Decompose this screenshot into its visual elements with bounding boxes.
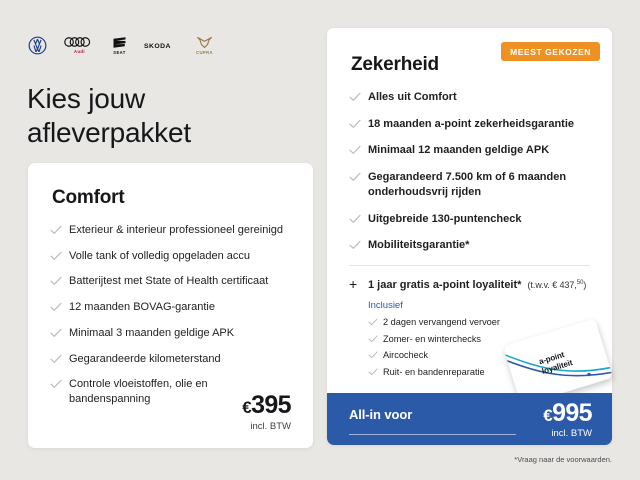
audi-logo: Audi [64, 36, 95, 54]
check-icon [50, 328, 62, 338]
inclusief-title: Inclusief [368, 300, 590, 311]
check-icon [349, 145, 361, 155]
status-badge: MEEST GEKOZEN [501, 42, 600, 61]
package-card-comfort[interactable]: Comfort Exterieur & interieur profession… [28, 163, 313, 448]
all-in-label: All-in voor [349, 407, 412, 422]
price-amount: 395 [251, 391, 291, 419]
check-icon [349, 214, 361, 224]
comfort-title: Comfort [52, 187, 313, 209]
list-item-label: Gegarandeerde kilometerstand [69, 353, 221, 365]
cupra-logo: CUPRA [196, 36, 213, 55]
list-item: 12 maanden BOVAG-garantie [50, 300, 291, 315]
comfort-price: €395 [242, 393, 291, 418]
list-item-label: 18 maanden a-point zekerheidsgarantie [368, 118, 574, 130]
skoda-logo: SKODA [144, 41, 179, 50]
comfort-price-block: €395 incl. BTW [242, 393, 291, 432]
seat-wordmark: SEAT [113, 50, 125, 55]
list-item-label: Controle vloeistoffen, olie en bandenspa… [69, 378, 208, 405]
loyalty-row: + 1 jaar gratis a-point loyaliteit* (t.w… [349, 279, 590, 291]
list-item-label: Alles uit Comfort [368, 91, 457, 103]
list-item: 18 maanden a-point zekerheidsgarantie [349, 117, 590, 132]
check-icon [349, 240, 361, 250]
check-icon [50, 225, 62, 235]
zekerheid-price: €995 [543, 401, 592, 426]
check-icon [368, 335, 378, 343]
list-item: Volle tank of volledig opgeladen accu [50, 249, 291, 264]
list-item-label: Mobiliteitsgarantie* [368, 239, 469, 251]
comfort-feature-list: Exterieur & interieur professioneel gere… [50, 223, 291, 407]
check-icon [349, 172, 361, 182]
list-item: Batterijtest met State of Health certifi… [50, 274, 291, 289]
loyalty-value-suffix: ) [583, 280, 586, 290]
list-item-label: Ruit- en bandenreparatie [383, 367, 485, 377]
list-item-label: Batterijtest met State of Health certifi… [69, 275, 268, 287]
footnote: *Vraag naar de voorwaarden. [514, 455, 612, 464]
plus-icon: + [349, 279, 361, 291]
list-item: Mobiliteitsgarantie* [349, 238, 590, 253]
seat-logo: SEAT [112, 36, 127, 55]
list-item: Exterieur & interieur professioneel gere… [50, 223, 291, 238]
zekerheid-price-footer: All-in voor €995 incl. BTW [327, 393, 612, 445]
page-root: Audi SEAT SKODA CUPRA Kies jouw afleverp… [0, 0, 640, 480]
divider [349, 265, 590, 266]
currency-symbol: € [242, 398, 251, 417]
list-item: Gegarandeerde kilometerstand [50, 352, 291, 367]
comfort-price-note: incl. BTW [242, 421, 291, 432]
zekerheid-price-block: €995 incl. BTW [543, 401, 592, 439]
loyalty-value: (t.w.v. € 437,50) [528, 280, 587, 290]
check-icon [50, 302, 62, 312]
audi-wordmark: Audi [74, 49, 85, 54]
list-item: Minimaal 12 maanden geldige APK [349, 143, 590, 158]
svg-text:SKODA: SKODA [144, 42, 171, 49]
check-icon [349, 92, 361, 102]
cupra-wordmark: CUPRA [196, 50, 213, 55]
check-icon [349, 119, 361, 129]
list-item: Alles uit Comfort [349, 90, 590, 105]
zekerheid-price-note: incl. BTW [543, 428, 592, 439]
check-icon [368, 318, 378, 326]
list-item-label: 2 dagen vervangend vervoer [383, 317, 500, 327]
loyalty-value-prefix: (t.w.v. € 437, [528, 280, 577, 290]
list-item-label: Gegarandeerd 7.500 km of 6 maanden onder… [368, 171, 566, 198]
list-item: Minimaal 3 maanden geldige APK [50, 326, 291, 341]
footer-rule [349, 434, 516, 435]
list-item-label: Minimaal 3 maanden geldige APK [69, 327, 234, 339]
list-item-label: Exterieur & interieur professioneel gere… [69, 224, 283, 236]
check-icon [368, 351, 378, 359]
volkswagen-logo [28, 36, 47, 55]
price-amount: 995 [552, 399, 592, 427]
check-icon [50, 354, 62, 364]
list-item: 2 dagen vervangend vervoer [368, 317, 590, 329]
page-title: Kies jouw afleverpakket [27, 82, 297, 150]
loyalty-label: 1 jaar gratis a-point loyaliteit* [368, 279, 521, 291]
list-item-label: Uitgebreide 130-puntencheck [368, 213, 521, 225]
package-card-zekerheid[interactable]: MEEST GEKOZEN Zekerheid Alles uit Comfor… [327, 28, 612, 445]
list-item-label: Volle tank of volledig opgeladen accu [69, 250, 250, 262]
list-item-label: Minimaal 12 maanden geldige APK [368, 144, 549, 156]
list-item-label: Zomer- en winterchecks [383, 334, 481, 344]
list-item-label: Aircocheck [383, 350, 428, 360]
check-icon [368, 368, 378, 376]
zekerheid-feature-list: Alles uit Comfort 18 maanden a-point zek… [349, 90, 590, 253]
list-item: Gegarandeerd 7.500 km of 6 maanden onder… [349, 170, 590, 199]
list-item-label: 12 maanden BOVAG-garantie [69, 301, 215, 313]
check-icon [50, 251, 62, 261]
currency-symbol: € [543, 406, 552, 425]
brand-logo-strip: Audi SEAT SKODA CUPRA [28, 33, 213, 57]
check-icon [50, 379, 62, 389]
check-icon [50, 276, 62, 286]
list-item: Uitgebreide 130-puntencheck [349, 212, 590, 227]
